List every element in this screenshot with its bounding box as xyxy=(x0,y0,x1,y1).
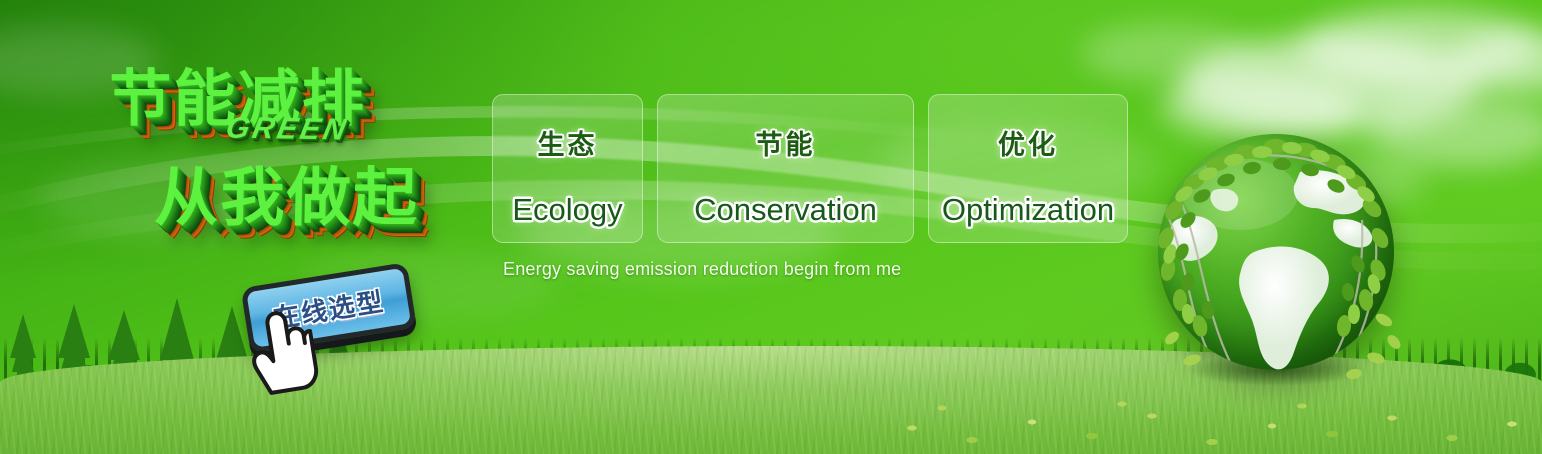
feature-card-optimization[interactable]: 优化 Optimization xyxy=(928,94,1128,243)
headline-artwork: 节能减排 GREEN 从我做起 xyxy=(88,20,504,287)
feature-card-ecology[interactable]: 生态 Ecology xyxy=(492,94,643,243)
headline-line-2: 从我做起 xyxy=(154,147,420,239)
feature-card-list: 生态 Ecology 节能 Conservation 优化 Optimizati… xyxy=(492,94,1128,243)
feature-card-cn-label: 生态 xyxy=(538,123,598,162)
feature-card-cn-label: 节能 xyxy=(756,123,816,162)
feature-card-en-label: Conservation xyxy=(694,192,877,228)
feature-card-en-label: Optimization xyxy=(942,192,1114,228)
feature-card-conservation[interactable]: 节能 Conservation xyxy=(657,94,914,243)
hand-pointer-icon xyxy=(235,304,322,401)
feature-card-cn-label: 优化 xyxy=(998,123,1058,162)
tagline: Energy saving emission reduction begin f… xyxy=(503,259,901,280)
globe-detail xyxy=(1148,124,1404,404)
headline-accent-word: GREEN xyxy=(223,112,351,148)
eco-promo-banner: 节能减排 GREEN 从我做起 在线选型 生态 Ecology 节能 Conse… xyxy=(0,0,1542,454)
leafy-globe-icon xyxy=(1148,124,1404,404)
feature-card-en-label: Ecology xyxy=(512,192,622,228)
